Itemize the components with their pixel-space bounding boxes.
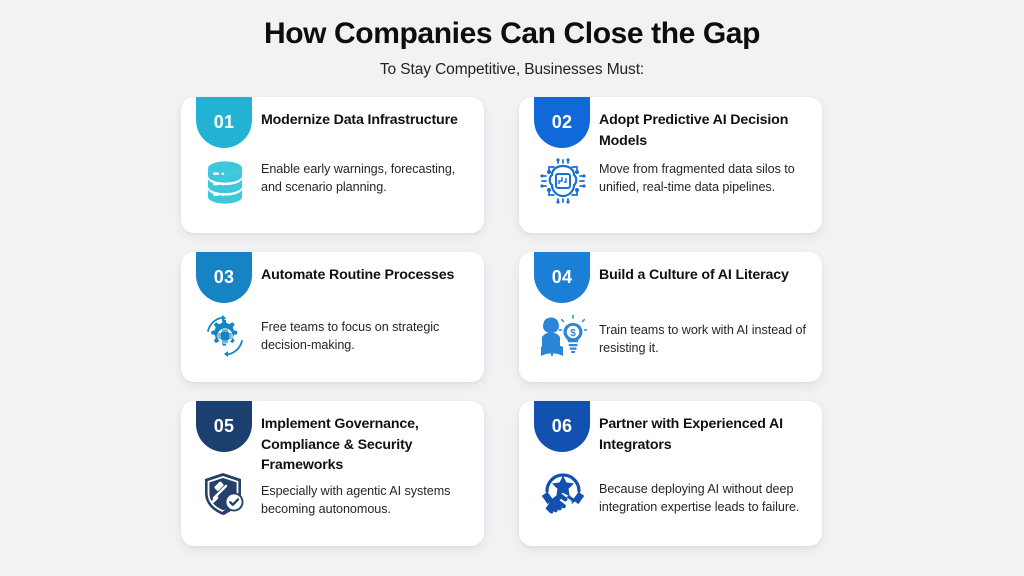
step-description-04: Train teams to work with AI instead of r… <box>599 322 810 358</box>
step-title-01: Modernize Data Infrastructure <box>261 110 474 131</box>
step-description-05: Especially with agentic AI systems becom… <box>261 483 472 519</box>
step-number-06: 06 <box>552 417 572 437</box>
step-title-05: Implement Governance, Compliance & Secur… <box>261 414 474 476</box>
step-title-02: Adopt Predictive AI Decision Models <box>599 110 812 151</box>
step-number-05: 05 <box>214 417 234 437</box>
step-number-01: 01 <box>214 113 234 133</box>
page-header: How Companies Can Close the Gap To Stay … <box>0 0 1024 79</box>
shield-gavel-check-icon <box>199 471 251 519</box>
step-card-02[interactable]: 02 Adopt Predictive AI Decision Models <box>519 97 822 233</box>
ai-brain-chip-icon <box>537 158 589 204</box>
svg-text:$: $ <box>570 328 576 339</box>
step-card-05[interactable]: 05 Implement Governance, Compliance & Se… <box>181 401 484 546</box>
step-badge-06: 06 <box>534 401 590 452</box>
step-description-06: Because deploying AI without deep integr… <box>599 481 810 517</box>
steps-card-grid: 01 Modernize Data Infrastructure Enable … <box>181 97 843 546</box>
step-badge-01: 01 <box>196 97 252 148</box>
step-card-04[interactable]: 04 Build a Culture of AI Literacy <box>519 252 822 382</box>
person-reading-lightbulb-icon: $ <box>537 315 589 359</box>
step-card-06[interactable]: 06 Partner with Experienced AI Integrato… <box>519 401 822 546</box>
step-title-06: Partner with Experienced AI Integrators <box>599 414 812 455</box>
step-badge-04: 04 <box>534 252 590 303</box>
database-icon <box>199 159 251 205</box>
step-card-01[interactable]: 01 Modernize Data Infrastructure Enable … <box>181 97 484 233</box>
step-title-04: Build a Culture of AI Literacy <box>599 265 812 286</box>
step-badge-03: 03 <box>196 252 252 303</box>
step-description-02: Move from fragmented data silos to unifi… <box>599 161 810 197</box>
step-badge-05: 05 <box>196 401 252 452</box>
gear-automation-icon <box>199 313 251 359</box>
step-description-01: Enable early warnings, forecasting, and … <box>261 161 472 197</box>
step-number-04: 04 <box>552 268 572 288</box>
page-subtitle: To Stay Competitive, Businesses Must: <box>0 61 1024 79</box>
step-description-03: Free teams to focus on strategic decisio… <box>261 319 472 355</box>
step-badge-02: 02 <box>534 97 590 148</box>
page-title: How Companies Can Close the Gap <box>0 17 1024 52</box>
step-card-03[interactable]: 03 Automate Routine Processes <box>181 252 484 382</box>
handshake-star-icon <box>537 469 589 515</box>
step-number-03: 03 <box>214 268 234 288</box>
step-title-03: Automate Routine Processes <box>261 265 474 286</box>
step-number-02: 02 <box>552 113 572 133</box>
